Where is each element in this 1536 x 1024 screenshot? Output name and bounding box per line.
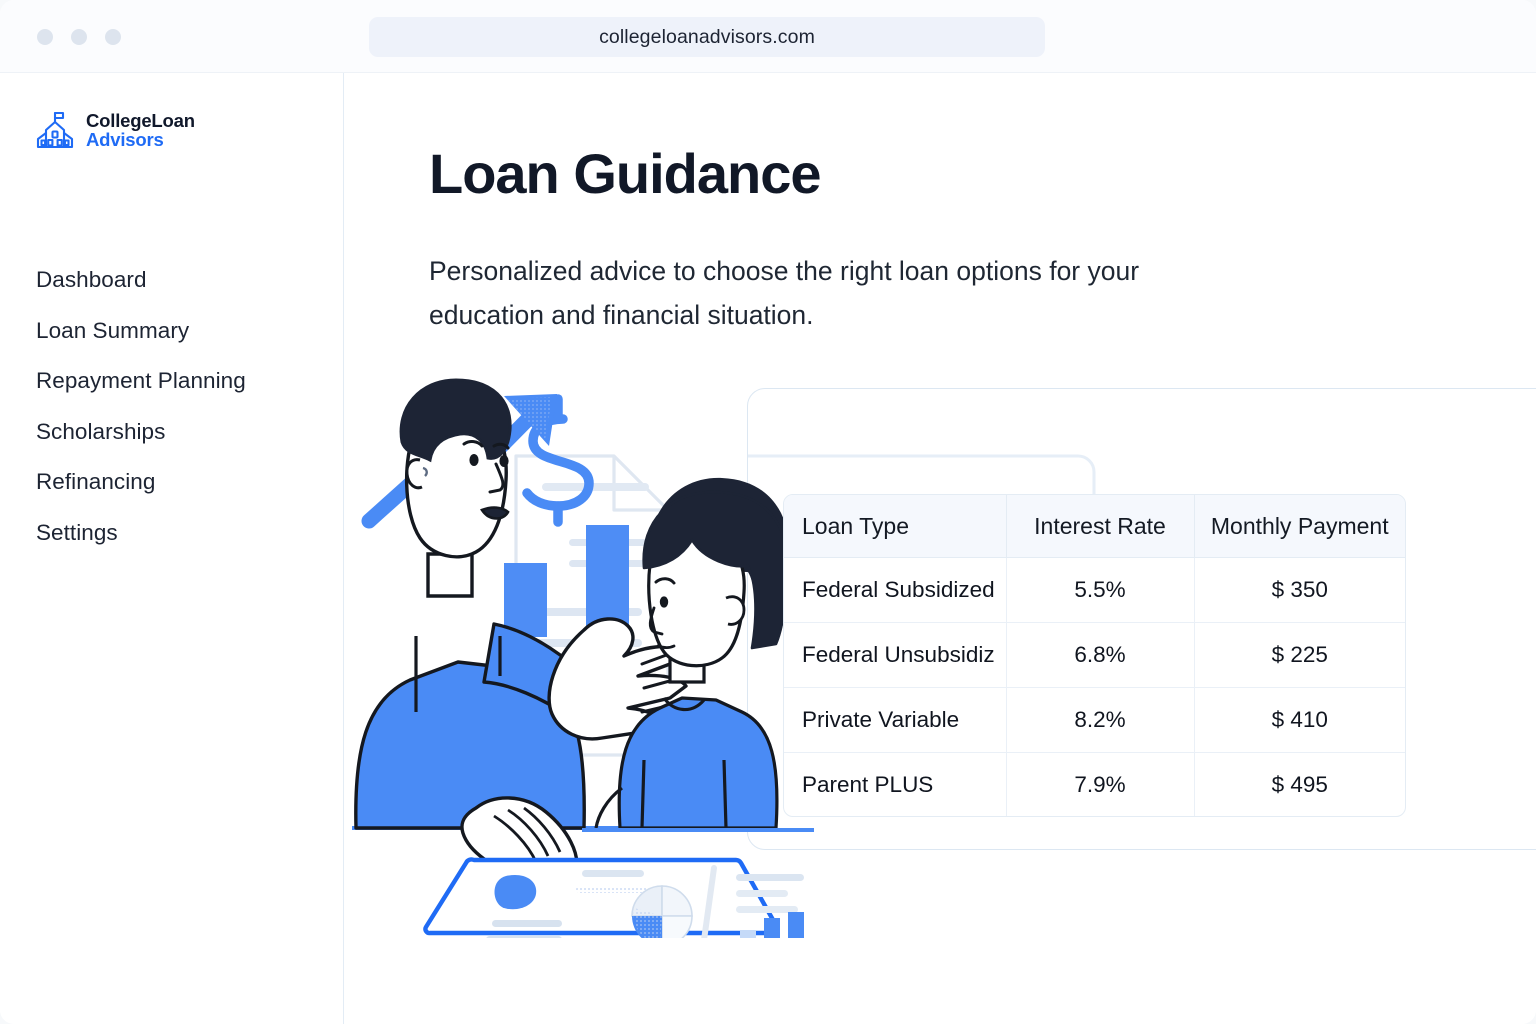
maximize-dot[interactable] <box>105 29 121 45</box>
minimize-dot[interactable] <box>71 29 87 45</box>
school-building-icon <box>33 109 77 153</box>
cell-monthly-payment: $ 225 <box>1194 623 1405 688</box>
table-row[interactable]: Federal Subsidized 5.5% $ 350 <box>784 558 1405 623</box>
table-row[interactable]: Federal Unsubsidiz 6.8% $ 225 <box>784 623 1405 688</box>
loan-comparison-table: Loan Type Interest Rate Monthly Payment … <box>783 494 1406 817</box>
page-subtitle: Personalized advice to choose the right … <box>429 250 1229 338</box>
cell-interest-rate: 6.8% <box>1006 623 1194 688</box>
close-dot[interactable] <box>37 29 53 45</box>
sidebar: CollegeLoan Advisors Dashboard Loan Summ… <box>0 73 344 1024</box>
cell-monthly-payment: $ 410 <box>1194 688 1405 753</box>
url-text: collegeloanadvisors.com <box>599 26 815 49</box>
cell-interest-rate: 7.9% <box>1006 753 1194 818</box>
sidebar-item-scholarships[interactable]: Scholarships <box>36 407 316 458</box>
browser-chrome: collegeloanadvisors.com <box>0 0 1536 73</box>
page-title: Loan Guidance <box>429 146 821 202</box>
desk-report-paper <box>425 859 804 938</box>
table-row[interactable]: Parent PLUS 7.9% $ 495 <box>784 753 1405 818</box>
cell-monthly-payment: $ 495 <box>1194 753 1405 818</box>
browser-window: collegeloanadvisors.com <box>0 0 1536 1024</box>
cell-loan-type: Parent PLUS <box>784 753 1006 818</box>
column-header-interest-rate[interactable]: Interest Rate <box>1006 495 1194 558</box>
cell-loan-type: Private Variable <box>784 688 1006 753</box>
sidebar-nav: Dashboard Loan Summary Repayment Plannin… <box>36 255 316 558</box>
table-row[interactable]: Private Variable 8.2% $ 410 <box>784 688 1405 753</box>
cell-loan-type: Federal Unsubsidiz <box>784 623 1006 688</box>
sidebar-item-dashboard[interactable]: Dashboard <box>36 255 316 306</box>
sidebar-item-settings[interactable]: Settings <box>36 508 316 559</box>
column-header-loan-type[interactable]: Loan Type <box>784 495 1006 558</box>
sidebar-item-repayment-planning[interactable]: Repayment Planning <box>36 356 316 407</box>
cell-monthly-payment: $ 350 <box>1194 558 1405 623</box>
main-content: Loan Guidance Personalized advice to cho… <box>344 73 1536 1024</box>
address-bar[interactable]: collegeloanadvisors.com <box>369 17 1045 57</box>
column-header-monthly-payment[interactable]: Monthly Payment <box>1194 495 1405 558</box>
sidebar-item-loan-summary[interactable]: Loan Summary <box>36 306 316 357</box>
window-controls <box>37 29 121 45</box>
cell-interest-rate: 5.5% <box>1006 558 1194 623</box>
brand-wordmark: CollegeLoan Advisors <box>86 112 195 150</box>
brand-line-2: Advisors <box>86 131 195 150</box>
pie-chart-icon <box>632 886 692 938</box>
table-header-row: Loan Type Interest Rate Monthly Payment <box>784 495 1405 558</box>
cell-interest-rate: 8.2% <box>1006 688 1194 753</box>
brand-logo[interactable]: CollegeLoan Advisors <box>33 109 195 153</box>
cell-loan-type: Federal Subsidized <box>784 558 1006 623</box>
sidebar-item-refinancing[interactable]: Refinancing <box>36 457 316 508</box>
